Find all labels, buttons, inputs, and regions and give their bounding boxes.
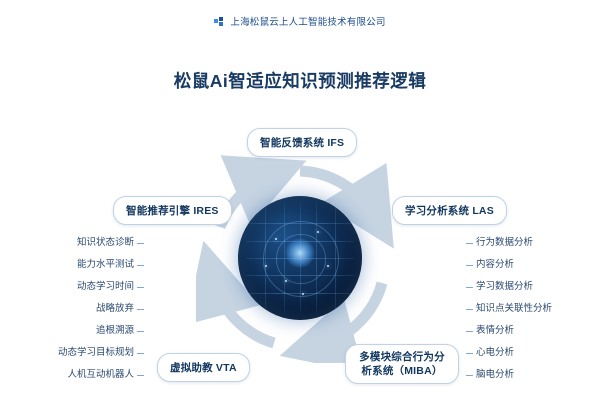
list-item: 动态学习目标规划 [22,342,144,364]
central-globe [238,196,362,320]
list-item: 人机互动机器人 [22,364,144,386]
node-ifs[interactable]: 智能反馈系统 IFS [247,128,357,157]
list-item: 内容分析 [466,254,584,276]
right-analysis-list: 行为数据分析 内容分析 学习数据分析 知识点关联性分析 表情分析 心电分析 脑电… [466,232,584,386]
node-ires[interactable]: 智能推荐引擎 IRES [113,196,232,225]
company-name: 上海松鼠云上人工智能技术有限公司 [230,17,385,28]
node-miba[interactable]: 多模块综合行为分析系统（MIBA） [345,344,459,384]
page-title: 松鼠Ai智适应知识预测推荐逻辑 [0,68,600,93]
left-capability-list: 知识状态诊断 能力水平测试 动态学习时间 战略放弃 追根溯源 动态学习目标规划 … [22,232,144,386]
list-item: 追根溯源 [22,320,144,342]
list-item: 脑电分析 [466,364,584,386]
company-brand: 上海松鼠云上人工智能技术有限公司 [0,14,600,28]
diagram-canvas: 上海松鼠云上人工智能技术有限公司 松鼠Ai智适应知识预测推荐逻辑 [0,0,600,401]
list-item: 表情分析 [466,320,584,342]
list-item: 动态学习时间 [22,276,144,298]
globe-sphere [238,196,362,320]
squares-logo-icon [214,17,225,26]
node-vta[interactable]: 虚拟助教 VTA [157,353,250,382]
list-item: 知识点关联性分析 [466,298,584,320]
node-las[interactable]: 学习分析系统 LAS [392,196,507,225]
list-item: 知识状态诊断 [22,232,144,254]
list-item: 能力水平测试 [22,254,144,276]
list-item: 心电分析 [466,342,584,364]
list-item: 学习数据分析 [466,276,584,298]
list-item: 战略放弃 [22,298,144,320]
list-item: 行为数据分析 [466,232,584,254]
